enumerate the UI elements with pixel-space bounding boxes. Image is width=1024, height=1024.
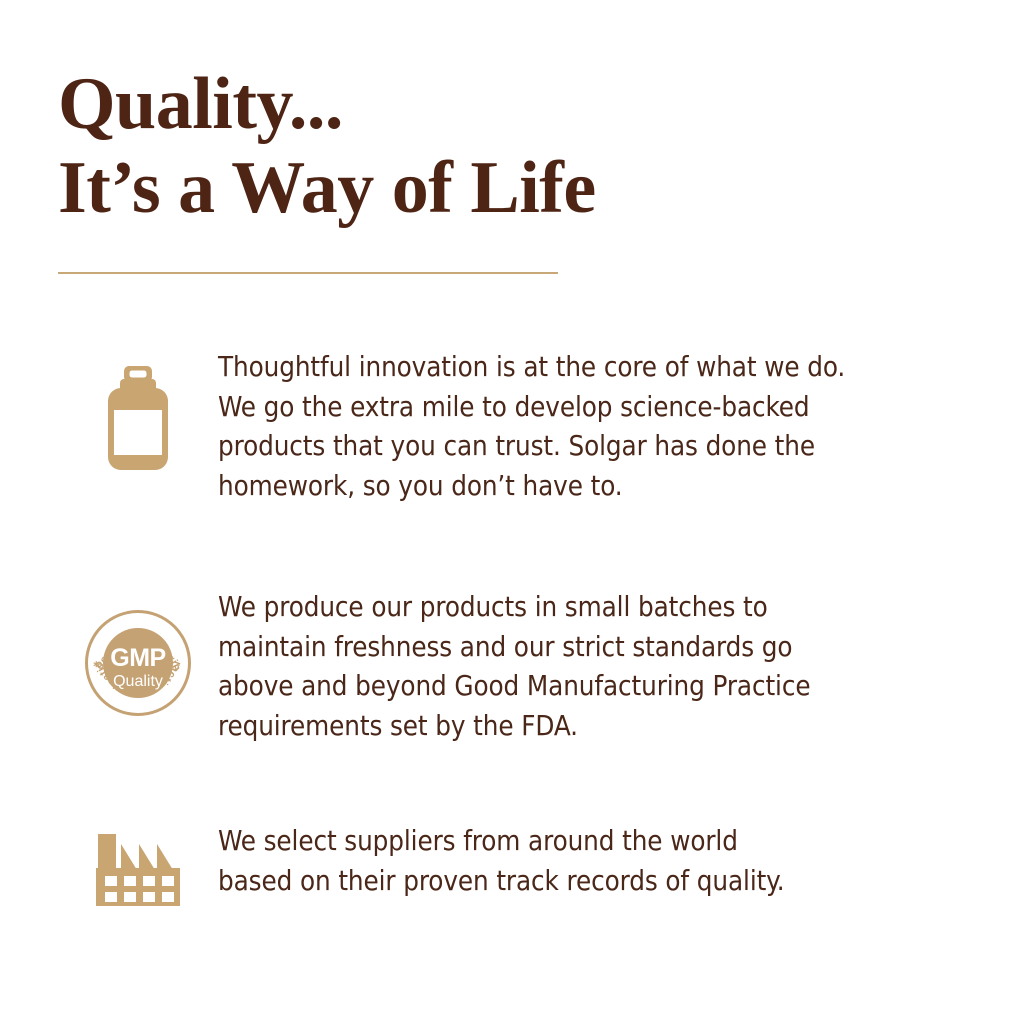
gmp-quality-seal-icon: Good Manufacturing Practice Certificatio…	[85, 610, 191, 716]
feature-text-line: products that you can trust. Solgar has …	[218, 427, 845, 467]
feature-text-line: Thoughtful innovation is at the core of …	[218, 348, 845, 388]
list-item: We select suppliers from around the worl…	[58, 822, 958, 911]
poster-canvas: Quality... It’s a Way of Life	[0, 0, 1024, 1024]
feature-text: We select suppliers from around the worl…	[218, 822, 785, 901]
list-item: Good Manufacturing Practice Certificatio…	[58, 588, 958, 746]
feature-text-line: homework, so you don’t have to.	[218, 467, 845, 507]
feature-text-line: We select suppliers from around the worl…	[218, 822, 785, 862]
feature-icon-slot: Good Manufacturing Practice Certificatio…	[58, 588, 218, 716]
feature-text-line: requirements set by the FDA.	[218, 707, 810, 747]
feature-text-line: above and beyond Good Manufacturing Prac…	[218, 667, 810, 707]
feature-text-line: maintain freshness and our strict standa…	[218, 628, 810, 668]
feature-icon-slot	[58, 822, 218, 911]
seal-separator-left: ∗	[93, 659, 101, 669]
feature-text: Thoughtful innovation is at the core of …	[218, 348, 845, 506]
page-title: Quality... It’s a Way of Life	[58, 62, 958, 230]
list-item: Thoughtful innovation is at the core of …	[58, 348, 958, 506]
seal-center-quality: Quality	[113, 673, 163, 690]
feature-text: We produce our products in small batches…	[218, 588, 810, 746]
feature-text-line: We produce our products in small batches…	[218, 588, 810, 628]
feature-text-line: We go the extra mile to develop science-…	[218, 388, 845, 428]
feature-icon-slot	[58, 348, 218, 475]
factory-icon	[90, 834, 186, 911]
page-title-line-1: Quality...	[58, 62, 958, 146]
feature-text-line: based on their proven track records of q…	[218, 862, 785, 902]
seal-center-gmp: GMP	[110, 644, 165, 672]
supplement-bottle-icon	[107, 366, 169, 475]
title-divider	[58, 272, 558, 274]
page-title-line-2: It’s a Way of Life	[58, 146, 958, 230]
